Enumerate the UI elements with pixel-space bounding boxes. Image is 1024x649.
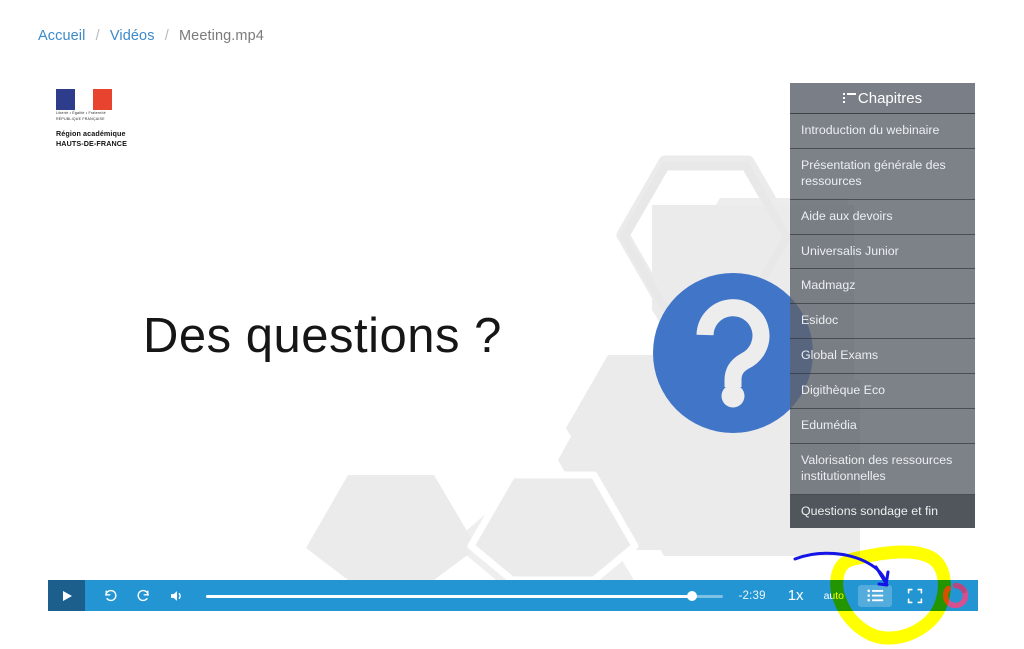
progress-bar[interactable]: [200, 580, 729, 611]
question-mark-badge: [653, 273, 813, 433]
progress-handle[interactable]: [687, 591, 697, 601]
chapters-panel-header: Chapitres: [790, 83, 975, 114]
chapter-item-questions-sondage-et-fin[interactable]: Questions sondage et fin: [790, 495, 975, 529]
chapter-item-universalis-junior[interactable]: Universalis Junior: [790, 235, 975, 270]
page-root: Accueil / Vidéos / Meeting.mp4: [0, 0, 1024, 649]
ring-logo-icon: [943, 583, 968, 608]
fullscreen-button[interactable]: [898, 580, 932, 611]
chapters-panel[interactable]: Chapitres Introduction du webinaire Prés…: [790, 83, 975, 528]
playback-speed-button[interactable]: 1x: [776, 587, 816, 604]
forward-button[interactable]: [127, 580, 160, 611]
breadcrumb-item-videos[interactable]: Vidéos: [110, 28, 155, 44]
republique-francaise-logo: ♥ Liberté • Égalité • Fraternité RÉPUBLI…: [56, 89, 176, 150]
volume-icon: [168, 587, 186, 605]
logo-devise: Liberté • Égalité • Fraternité: [56, 111, 176, 116]
question-mark-icon: [653, 273, 813, 433]
rewind-button[interactable]: [94, 580, 127, 611]
chapter-item-valorisation-des-ressources-institutionnelles[interactable]: Valorisation des ressources institutionn…: [790, 444, 975, 495]
video-player[interactable]: ♥ Liberté • Égalité • Fraternité RÉPUBLI…: [48, 80, 978, 611]
play-button[interactable]: [48, 580, 85, 611]
logo-org-line1: Région académique: [56, 129, 176, 139]
chapter-item-introduction-du-webinaire[interactable]: Introduction du webinaire: [790, 114, 975, 149]
chapters-toggle-button[interactable]: [858, 585, 892, 607]
chapter-item-global-exams[interactable]: Global Exams: [790, 339, 975, 374]
logo-republic: RÉPUBLIQUE FRANÇAISE: [56, 117, 176, 122]
forward-icon: [135, 587, 152, 604]
volume-button[interactable]: [160, 580, 194, 611]
video-stage[interactable]: ♥ Liberté • Égalité • Fraternité RÉPUBLI…: [48, 80, 978, 580]
rewind-icon: [102, 587, 119, 604]
list-icon: [843, 93, 856, 104]
time-remaining: -2:39: [735, 590, 776, 602]
logo-org: Région académique HAUTS-DE-FRANCE: [56, 129, 176, 150]
chapter-item-edumedia[interactable]: Edumédia: [790, 409, 975, 444]
player-control-bar: -2:39 1x auto: [48, 580, 978, 611]
logo-org-line2: HAUTS-DE-FRANCE: [56, 139, 176, 149]
slide-title: Des questions ?: [143, 308, 502, 364]
chapter-item-esidoc[interactable]: Esidoc: [790, 304, 975, 339]
chapters-panel-title: Chapitres: [858, 90, 922, 107]
breadcrumb: Accueil / Vidéos / Meeting.mp4: [38, 28, 264, 44]
breadcrumb-item-accueil[interactable]: Accueil: [38, 28, 85, 44]
brand-logo: [932, 580, 978, 611]
progress-track: [206, 595, 723, 598]
chapters-list-icon: [867, 589, 884, 602]
french-flag-icon: ♥: [56, 89, 112, 110]
breadcrumb-separator: /: [96, 28, 100, 44]
chapter-item-madmagz[interactable]: Madmagz: [790, 269, 975, 304]
play-icon: [63, 591, 72, 601]
fullscreen-icon: [907, 588, 923, 604]
breadcrumb-separator: /: [165, 28, 169, 44]
breadcrumb-current-file: Meeting.mp4: [179, 28, 264, 44]
chapter-item-presentation-generale-des-ressources[interactable]: Présentation générale des ressources: [790, 149, 975, 200]
chapter-item-aide-aux-devoirs[interactable]: Aide aux devoirs: [790, 200, 975, 235]
chapter-item-digitheque-eco[interactable]: Digithèque Eco: [790, 374, 975, 409]
quality-button[interactable]: auto: [816, 590, 852, 602]
progress-played: [206, 595, 692, 598]
